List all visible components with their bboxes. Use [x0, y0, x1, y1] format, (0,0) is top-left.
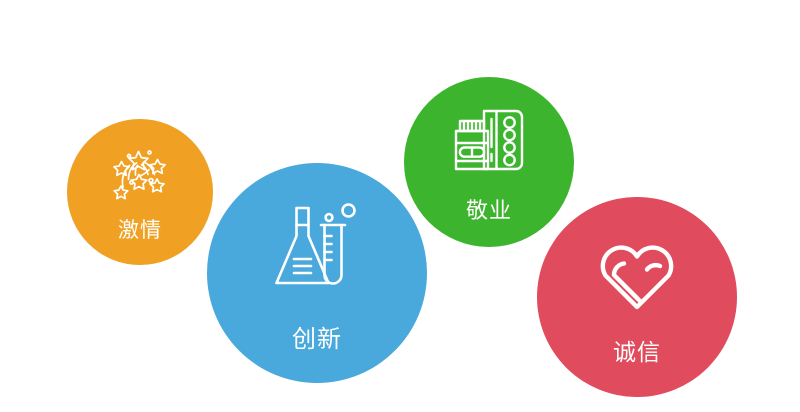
value-label-dedication: 敬业 [466, 193, 512, 225]
medicine-bottle-blister-icon [450, 107, 528, 179]
value-circle-innovation[interactable]: 创新 [207, 163, 427, 383]
value-circle-passion[interactable]: 激情 [67, 119, 213, 265]
flask-testtube-icon [274, 203, 360, 297]
value-circle-dedication[interactable]: 敬业 [404, 77, 574, 247]
heart-outline-icon [595, 239, 679, 313]
value-label-passion: 激情 [118, 214, 162, 244]
values-infographic: 激情 [0, 0, 800, 412]
fireworks-icon [107, 146, 173, 204]
value-label-innovation: 创新 [292, 319, 342, 354]
value-circle-integrity[interactable]: 诚信 [537, 197, 737, 397]
value-label-integrity: 诚信 [613, 333, 661, 367]
